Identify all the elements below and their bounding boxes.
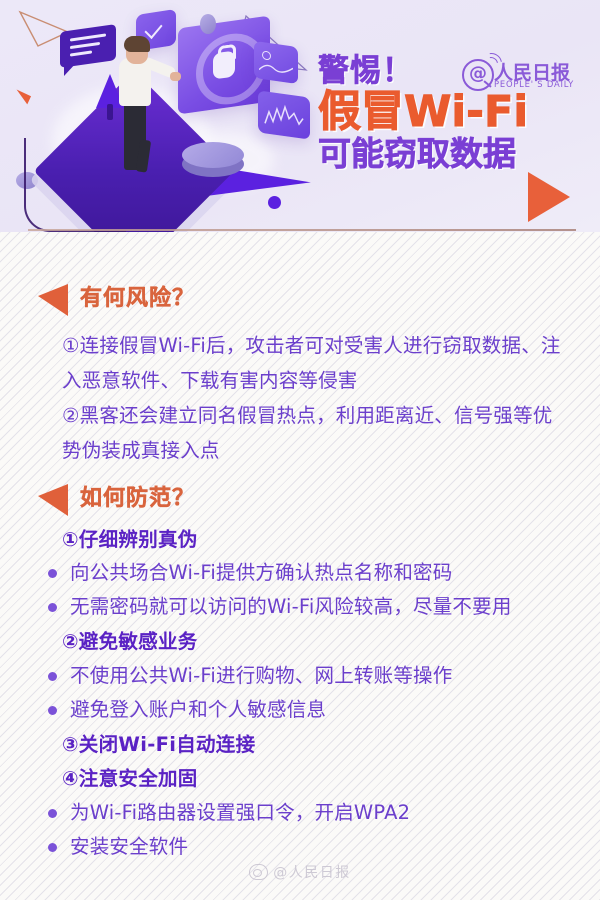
list-item: 避免登入账户和个人敏感信息	[48, 694, 576, 726]
prevention-subhead-2: ②避免敏感业务	[62, 626, 570, 658]
list-item: 不使用公共Wi-Fi进行购物、网上转账等操作	[48, 660, 576, 692]
prevention-bullet-5: 为Wi-Fi路由器设置强口令，开启WPA2	[70, 797, 410, 829]
prevention-bullet-6: 安装安全软件	[70, 831, 188, 863]
section-risks-header: 有何风险？	[0, 280, 600, 324]
pebble-decor-top	[200, 14, 216, 34]
bullet-dot-icon	[48, 569, 57, 578]
bullet-dot-icon	[48, 603, 57, 612]
prevention-subhead-4: ④注意安全加固	[62, 763, 570, 795]
chat-bubble-tail	[64, 62, 77, 76]
header-banner: @ 人民日报 PEOPLE' S DAILY 警惕！ 假冒Wi-Fi 可能窃取数…	[0, 0, 600, 232]
risk-paragraph-2: ②黑客还会建立同名假冒热点，利用距离近、信号强等优势伪装成真接入点	[62, 398, 570, 468]
list-item: 安装安全软件	[48, 831, 576, 863]
title-sub-line: 可能窃取数据	[318, 137, 588, 172]
orange-triangle-decor-right	[528, 172, 570, 222]
section-prevention-header: 如何防范？	[0, 480, 600, 524]
watermark-text: @人民日报	[273, 862, 351, 882]
cylinder-decor	[182, 142, 244, 172]
prevention-bullet-4: 避免登入账户和个人敏感信息	[70, 694, 326, 726]
title-main-line: 假冒Wi-Fi	[318, 91, 588, 135]
bullet-dot-icon	[48, 706, 57, 715]
section-marker-triangle-icon	[38, 284, 68, 316]
orange-arrow-decor	[9, 89, 31, 112]
bullet-dot-icon	[48, 672, 57, 681]
prevention-bullet-1: 向公共场合Wi-Fi提供方确认热点名称和密码	[70, 557, 452, 589]
footer-watermark: @人民日报	[0, 862, 600, 884]
weibo-icon	[249, 864, 268, 880]
section-risks-title: 有何风险？	[80, 280, 195, 312]
photo-sun-icon	[262, 50, 271, 60]
section-prevention-title: 如何防范？	[80, 480, 195, 512]
lock-body-icon	[213, 50, 235, 79]
prevention-bullet-2: 无需密码就可以访问的Wi-Fi风险较高，尽量不要用	[70, 591, 512, 623]
wire-endpoint-dot	[268, 196, 281, 209]
section-marker-triangle-icon-2	[38, 484, 68, 516]
bullet-dot-icon	[48, 809, 57, 818]
person-hair	[124, 36, 150, 52]
title-alert-line: 警惕！	[318, 56, 588, 87]
content-area: 有何风险？ ①连接假冒Wi-Fi后，攻击者可对受害人进行窃取数据、注入恶意软件、…	[0, 232, 600, 900]
cylinder-top	[182, 142, 244, 168]
risk-paragraph-1: ①连接假冒Wi-Fi后，攻击者可对受害人进行窃取数据、注入恶意软件、下载有害内容…	[62, 328, 570, 398]
prevention-subhead-3: ③关闭Wi-Fi自动连接	[62, 729, 570, 761]
tree-trunk-icon	[107, 104, 113, 120]
section-risks: 有何风险？ ①连接假冒Wi-Fi后，攻击者可对受害人进行窃取数据、注入恶意软件、…	[0, 280, 600, 324]
person-hand	[170, 72, 181, 81]
bullet-dot-icon	[48, 843, 57, 852]
poster-title-group: 警惕！ 假冒Wi-Fi 可能窃取数据	[318, 56, 588, 172]
list-item: 无需密码就可以访问的Wi-Fi风险较高，尽量不要用	[48, 591, 576, 623]
connection-wire	[24, 138, 126, 232]
header-divider	[28, 229, 576, 231]
list-item: 向公共场合Wi-Fi提供方确认热点名称和密码	[48, 557, 576, 589]
section-prevention: 如何防范？ ①仔细辨别真伪 向公共场合Wi-Fi提供方确认热点名称和密码 无需密…	[0, 480, 600, 524]
list-item: 为Wi-Fi路由器设置强口令，开启WPA2	[48, 797, 576, 829]
line-chart-icon	[264, 101, 304, 133]
prevention-subhead-1: ①仔细辨别真伪	[62, 524, 570, 556]
poster-root: @ 人民日报 PEOPLE' S DAILY 警惕！ 假冒Wi-Fi 可能窃取数…	[0, 0, 600, 900]
hero-illustration	[0, 0, 330, 232]
prevention-bullet-3: 不使用公共Wi-Fi进行购物、网上转账等操作	[70, 660, 452, 692]
